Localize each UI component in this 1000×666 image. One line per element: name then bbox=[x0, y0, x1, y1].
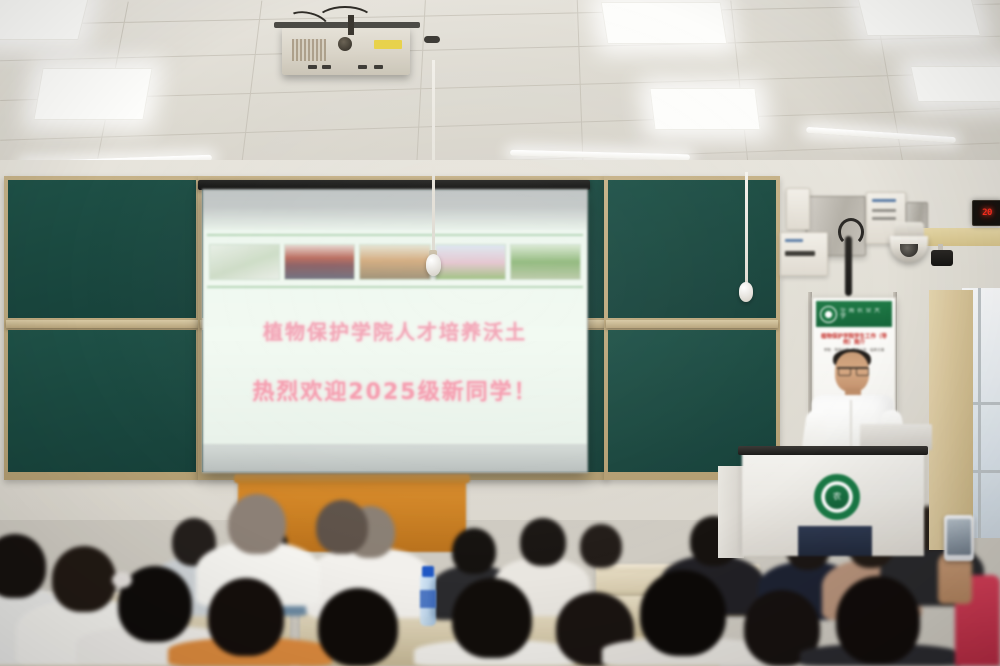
podium-top-edge bbox=[738, 446, 928, 455]
projector-lens bbox=[338, 37, 352, 51]
hanging-microphone bbox=[845, 236, 852, 296]
audience-head bbox=[452, 528, 496, 574]
banner-title-text: 植物保护学院学生工作（导师）简介 bbox=[817, 334, 891, 346]
university-seal-icon bbox=[820, 306, 837, 323]
glasses-lens-right bbox=[856, 367, 869, 376]
glasses-lens-left bbox=[838, 367, 851, 376]
screen-pull-cord[interactable] bbox=[432, 60, 435, 258]
emblem-glyph: 农 bbox=[833, 493, 841, 501]
audience-head bbox=[316, 500, 368, 554]
chalk-ledge bbox=[6, 320, 198, 328]
water-bottle-cap bbox=[422, 566, 434, 577]
presentation-slide: 植物保护学院人才培养沃土 热烈欢迎2025级新同学！ bbox=[203, 230, 587, 444]
banner-header: 华 南 农 业 大 学 bbox=[816, 301, 892, 327]
lecture-hall-photo: 植物保护学院人才培养沃土 热烈欢迎2025级新同学！ 20 bbox=[0, 0, 1000, 666]
chalk-ledge bbox=[606, 320, 778, 328]
audience-head bbox=[208, 578, 284, 656]
hair-clip bbox=[112, 572, 132, 588]
emblem-inner-ring: 农 bbox=[825, 485, 849, 509]
window-mullion bbox=[978, 288, 981, 538]
projector-vent bbox=[292, 39, 326, 61]
ceiling-panel-light bbox=[857, 0, 981, 36]
projector-label bbox=[374, 40, 402, 49]
audience-head bbox=[318, 588, 398, 666]
ceiling-panel-light bbox=[910, 66, 1000, 102]
slide-photo-strip bbox=[209, 244, 581, 280]
ceiling-camera bbox=[931, 250, 953, 266]
slide-photo bbox=[209, 244, 280, 280]
blackboard-surface bbox=[8, 180, 196, 318]
projection-screen: 植物保护学院人才培养沃土 热烈欢迎2025级新同学！ bbox=[202, 189, 588, 473]
ceiling-smoke-detector bbox=[424, 36, 440, 43]
electrical-box-upper bbox=[786, 188, 810, 230]
water-bottle-label bbox=[420, 590, 436, 608]
board-pull-cord[interactable] bbox=[745, 172, 748, 284]
blackboard-surface bbox=[8, 330, 196, 472]
audience-head bbox=[52, 546, 116, 612]
slide-photo bbox=[359, 244, 430, 280]
podium-left-side bbox=[718, 466, 744, 558]
front-desk-top bbox=[234, 474, 470, 483]
audience-head bbox=[0, 534, 46, 598]
ceiling-panel-light bbox=[601, 2, 728, 44]
podium-control-panel[interactable] bbox=[798, 526, 872, 556]
audience-head bbox=[580, 524, 622, 568]
ceiling-panel-light bbox=[649, 88, 760, 130]
audience-head bbox=[228, 494, 286, 554]
audience-head bbox=[520, 518, 566, 566]
screen-pull-knob[interactable] bbox=[426, 254, 441, 276]
slide-photo bbox=[510, 244, 581, 280]
slide-headline: 植物保护学院人才培养沃土 bbox=[203, 316, 587, 345]
ceiling bbox=[0, 0, 1000, 186]
university-emblem: 农 bbox=[814, 474, 860, 520]
audience-head bbox=[836, 576, 920, 664]
audience-head bbox=[640, 570, 726, 656]
smartphone-screen[interactable] bbox=[947, 519, 971, 555]
blackboard-left bbox=[4, 176, 200, 480]
led-clock-value: 20 bbox=[982, 208, 992, 218]
lectern: 农 bbox=[742, 452, 924, 556]
slide-photo bbox=[435, 244, 506, 280]
blackboard-right bbox=[604, 176, 780, 480]
electrical-box-lower bbox=[780, 232, 828, 276]
audience-head bbox=[452, 578, 532, 658]
ceiling-panel-light bbox=[0, 0, 90, 40]
board-pull-knob[interactable] bbox=[739, 282, 753, 302]
led-clock-display: 20 bbox=[972, 200, 1000, 226]
ceiling-panel-light bbox=[33, 68, 152, 120]
banner-header-text: 华 南 农 业 大 学 bbox=[840, 308, 888, 321]
wall-column bbox=[929, 290, 973, 550]
slide-photo bbox=[284, 244, 355, 280]
slide-subheadline: 热烈欢迎2025级新同学！ bbox=[203, 374, 587, 406]
